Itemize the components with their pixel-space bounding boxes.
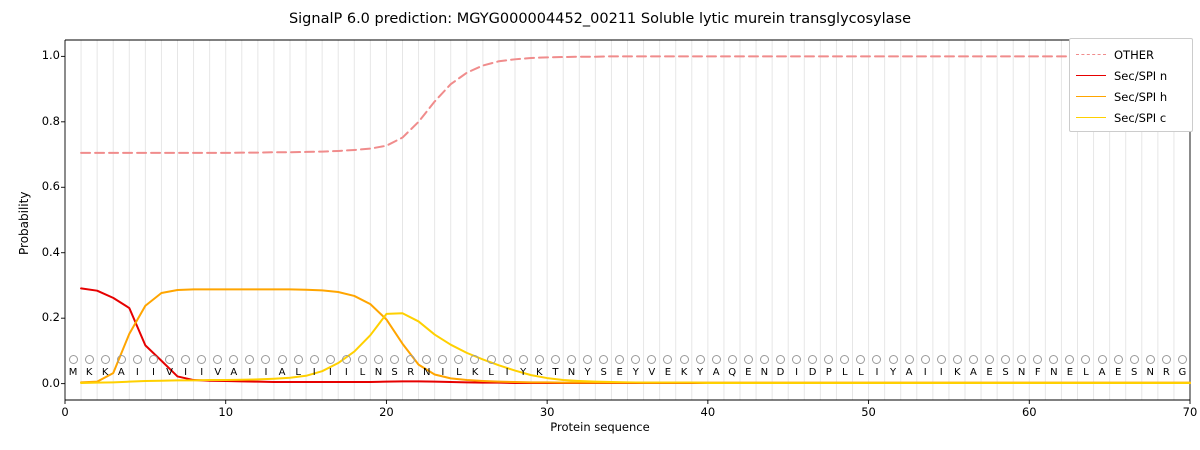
legend-item-other[interactable]: OTHER: [1076, 44, 1186, 65]
residue-letter: V: [644, 366, 660, 380]
residue-marker: [1046, 352, 1062, 366]
residue-letter: N: [1142, 366, 1158, 380]
legend-swatch-icon: [1076, 117, 1106, 118]
circle-icon: [342, 355, 351, 364]
residue-marker: [772, 352, 788, 366]
residue-marker: [965, 352, 981, 366]
residue-letter: N: [563, 366, 579, 380]
circle-icon: [165, 355, 174, 364]
circle-icon: [1146, 355, 1155, 364]
residue-marker: [789, 352, 805, 366]
residue-letter: F: [1030, 366, 1046, 380]
residue-marker: [676, 352, 692, 366]
residue-letter: I: [145, 366, 161, 380]
residue-marker: [1174, 352, 1190, 366]
residue-letter: Y: [628, 366, 644, 380]
circle-icon: [1017, 355, 1026, 364]
residue-letter: E: [740, 366, 756, 380]
residue-letter: R: [1158, 366, 1174, 380]
circle-icon: [149, 355, 158, 364]
circle-icon: [1098, 355, 1107, 364]
circle-icon: [197, 355, 206, 364]
circle-icon: [840, 355, 849, 364]
residue-marker: [1062, 352, 1078, 366]
residue-letter: L: [483, 366, 499, 380]
residue-marker: [338, 352, 354, 366]
circle-icon: [438, 355, 447, 364]
circle-icon: [1178, 355, 1187, 364]
residue-marker: [65, 352, 81, 366]
residue-marker: [178, 352, 194, 366]
residue-marker: [901, 352, 917, 366]
residue-letter: I: [933, 366, 949, 380]
circle-icon: [406, 355, 415, 364]
residue-marker: [853, 352, 869, 366]
circle-icon: [503, 355, 512, 364]
circle-icon: [551, 355, 560, 364]
circle-icon: [969, 355, 978, 364]
legend-label: OTHER: [1114, 48, 1154, 62]
residue-marker: [692, 352, 708, 366]
circle-icon: [696, 355, 705, 364]
residue-marker: [322, 352, 338, 366]
legend-swatch-icon: [1076, 96, 1106, 97]
residue-marker: [1158, 352, 1174, 366]
legend-label: Sec/SPI h: [1114, 90, 1167, 104]
circle-icon: [728, 355, 737, 364]
residue-marker: [1142, 352, 1158, 366]
circle-icon: [261, 355, 270, 364]
residue-letter: I: [789, 366, 805, 380]
residue-marker-row: [65, 352, 1190, 366]
circle-icon: [85, 355, 94, 364]
residue-letter: Y: [580, 366, 596, 380]
residue-marker: [145, 352, 161, 366]
residue-letter: E: [612, 366, 628, 380]
chart-legend: OTHERSec/SPI nSec/SPI hSec/SPI c: [1069, 38, 1193, 132]
residue-marker: [1094, 352, 1110, 366]
circle-icon: [1081, 355, 1090, 364]
circle-icon: [1162, 355, 1171, 364]
residue-letter: Y: [692, 366, 708, 380]
residue-letter: Q: [724, 366, 740, 380]
residue-marker: [290, 352, 306, 366]
residue-letter: E: [981, 366, 997, 380]
residue-letter: L: [451, 366, 467, 380]
residue-letter: N: [419, 366, 435, 380]
circle-icon: [824, 355, 833, 364]
residue-letter: I: [869, 366, 885, 380]
residue-marker: [547, 352, 563, 366]
residue-marker: [210, 352, 226, 366]
residue-letter: M: [65, 366, 81, 380]
circle-icon: [1001, 355, 1010, 364]
circle-icon: [245, 355, 254, 364]
residue-letter: S: [596, 366, 612, 380]
circle-icon: [792, 355, 801, 364]
residue-letter: D: [805, 366, 821, 380]
circle-icon: [856, 355, 865, 364]
residue-marker: [917, 352, 933, 366]
residue-letter: I: [242, 366, 258, 380]
residue-marker: [869, 352, 885, 366]
residue-marker: [435, 352, 451, 366]
circle-icon: [1049, 355, 1058, 364]
circle-icon: [1130, 355, 1139, 364]
residue-letter: N: [1014, 366, 1030, 380]
residue-marker: [628, 352, 644, 366]
circle-icon: [567, 355, 576, 364]
circle-icon: [712, 355, 721, 364]
residue-letter: L: [354, 366, 370, 380]
residue-letter-row: MKKAIIVIIVAIIALIIILNSRNILKLIYKTNYSEYVEKY…: [65, 366, 1190, 380]
residue-letter: I: [178, 366, 194, 380]
legend-item-sec-spi-n[interactable]: Sec/SPI n: [1076, 65, 1186, 86]
residue-marker: [724, 352, 740, 366]
residue-marker: [821, 352, 837, 366]
residue-letter: I: [258, 366, 274, 380]
residue-letter: I: [338, 366, 354, 380]
residue-letter: R: [403, 366, 419, 380]
residue-letter: D: [772, 366, 788, 380]
residue-marker: [1126, 352, 1142, 366]
circle-icon: [808, 355, 817, 364]
circle-icon: [631, 355, 640, 364]
legend-label: Sec/SPI c: [1114, 111, 1166, 125]
circle-icon: [905, 355, 914, 364]
residue-marker: [949, 352, 965, 366]
residue-marker: [998, 352, 1014, 366]
residue-letter: V: [161, 366, 177, 380]
circle-icon: [294, 355, 303, 364]
residue-letter: T: [547, 366, 563, 380]
circle-icon: [889, 355, 898, 364]
residue-marker: [387, 352, 403, 366]
circle-icon: [326, 355, 335, 364]
plot-area: [0, 0, 1200, 450]
residue-letter: N: [756, 366, 772, 380]
circle-icon: [390, 355, 399, 364]
residue-letter: I: [435, 366, 451, 380]
residue-marker: [837, 352, 853, 366]
residue-letter: A: [901, 366, 917, 380]
residue-marker: [483, 352, 499, 366]
residue-marker: [981, 352, 997, 366]
residue-marker: [596, 352, 612, 366]
circle-icon: [358, 355, 367, 364]
circle-icon: [422, 355, 431, 364]
residue-letter: L: [837, 366, 853, 380]
residue-letter: N: [1046, 366, 1062, 380]
signalp-prediction-figure: SignalP 6.0 prediction: MGYG000004452_00…: [0, 0, 1200, 450]
residue-marker: [370, 352, 386, 366]
residue-letter: A: [965, 366, 981, 380]
residue-marker: [354, 352, 370, 366]
residue-letter: P: [821, 366, 837, 380]
residue-letter: N: [370, 366, 386, 380]
residue-marker: [612, 352, 628, 366]
residue-marker: [563, 352, 579, 366]
circle-icon: [454, 355, 463, 364]
circle-icon: [133, 355, 142, 364]
residue-marker: [531, 352, 547, 366]
legend-swatch-icon: [1076, 75, 1106, 76]
circle-icon: [181, 355, 190, 364]
circle-icon: [872, 355, 881, 364]
residue-letter: A: [274, 366, 290, 380]
circle-icon: [583, 355, 592, 364]
residue-marker: [1014, 352, 1030, 366]
circle-icon: [1033, 355, 1042, 364]
residue-letter: S: [387, 366, 403, 380]
circle-icon: [1065, 355, 1074, 364]
circle-icon: [1114, 355, 1123, 364]
circle-icon: [985, 355, 994, 364]
residue-marker: [933, 352, 949, 366]
residue-marker: [97, 352, 113, 366]
residue-marker: [194, 352, 210, 366]
residue-letter: K: [467, 366, 483, 380]
residue-letter: I: [499, 366, 515, 380]
circle-icon: [535, 355, 544, 364]
circle-icon: [744, 355, 753, 364]
residue-letter: G: [1174, 366, 1190, 380]
legend-item-sec-spi-c[interactable]: Sec/SPI c: [1076, 107, 1186, 128]
residue-letter: A: [113, 366, 129, 380]
residue-letter: A: [1094, 366, 1110, 380]
circle-icon: [374, 355, 383, 364]
residue-marker: [644, 352, 660, 366]
circle-icon: [647, 355, 656, 364]
residue-letter: I: [129, 366, 145, 380]
residue-letter: I: [306, 366, 322, 380]
circle-icon: [680, 355, 689, 364]
residue-marker: [499, 352, 515, 366]
residue-marker: [226, 352, 242, 366]
residue-letter: S: [1126, 366, 1142, 380]
residue-marker: [258, 352, 274, 366]
circle-icon: [213, 355, 222, 364]
circle-icon: [921, 355, 930, 364]
legend-label: Sec/SPI n: [1114, 69, 1167, 83]
circle-icon: [953, 355, 962, 364]
residue-letter: E: [1062, 366, 1078, 380]
residue-marker: [805, 352, 821, 366]
legend-swatch-icon: [1076, 54, 1106, 55]
circle-icon: [615, 355, 624, 364]
residue-marker: [403, 352, 419, 366]
legend-item-sec-spi-h[interactable]: Sec/SPI h: [1076, 86, 1186, 107]
residue-letter: K: [676, 366, 692, 380]
residue-marker: [81, 352, 97, 366]
residue-marker: [274, 352, 290, 366]
circle-icon: [937, 355, 946, 364]
circle-icon: [69, 355, 78, 364]
residue-letter: Y: [885, 366, 901, 380]
circle-icon: [776, 355, 785, 364]
circle-icon: [278, 355, 287, 364]
residue-marker: [885, 352, 901, 366]
residue-letter: I: [322, 366, 338, 380]
residue-marker: [129, 352, 145, 366]
residue-letter: L: [290, 366, 306, 380]
circle-icon: [519, 355, 528, 364]
residue-letter: L: [1078, 366, 1094, 380]
circle-icon: [487, 355, 496, 364]
residue-marker: [515, 352, 531, 366]
circle-icon: [117, 355, 126, 364]
protein-sequence-track: MKKAIIVIIVAIIALIIILNSRNILKLIYKTNYSEYVEKY…: [65, 352, 1190, 382]
residue-letter: S: [998, 366, 1014, 380]
circle-icon: [229, 355, 238, 364]
residue-marker: [161, 352, 177, 366]
circle-icon: [663, 355, 672, 364]
residue-marker: [467, 352, 483, 366]
residue-letter: K: [81, 366, 97, 380]
residue-letter: A: [708, 366, 724, 380]
residue-marker: [419, 352, 435, 366]
residue-letter: L: [853, 366, 869, 380]
circle-icon: [760, 355, 769, 364]
residue-marker: [1110, 352, 1126, 366]
residue-letter: E: [660, 366, 676, 380]
residue-letter: K: [949, 366, 965, 380]
series-line-other: [81, 56, 1190, 153]
circle-icon: [310, 355, 319, 364]
residue-letter: Y: [515, 366, 531, 380]
residue-marker: [660, 352, 676, 366]
residue-letter: E: [1110, 366, 1126, 380]
circle-icon: [101, 355, 110, 364]
residue-marker: [242, 352, 258, 366]
residue-letter: K: [97, 366, 113, 380]
residue-letter: K: [531, 366, 547, 380]
residue-letter: I: [194, 366, 210, 380]
residue-marker: [306, 352, 322, 366]
residue-marker: [740, 352, 756, 366]
circle-icon: [599, 355, 608, 364]
residue-marker: [1078, 352, 1094, 366]
residue-marker: [708, 352, 724, 366]
residue-marker: [451, 352, 467, 366]
circle-icon: [470, 355, 479, 364]
residue-letter: V: [210, 366, 226, 380]
residue-marker: [1030, 352, 1046, 366]
residue-letter: A: [226, 366, 242, 380]
residue-marker: [113, 352, 129, 366]
residue-letter: I: [917, 366, 933, 380]
residue-marker: [580, 352, 596, 366]
residue-marker: [756, 352, 772, 366]
